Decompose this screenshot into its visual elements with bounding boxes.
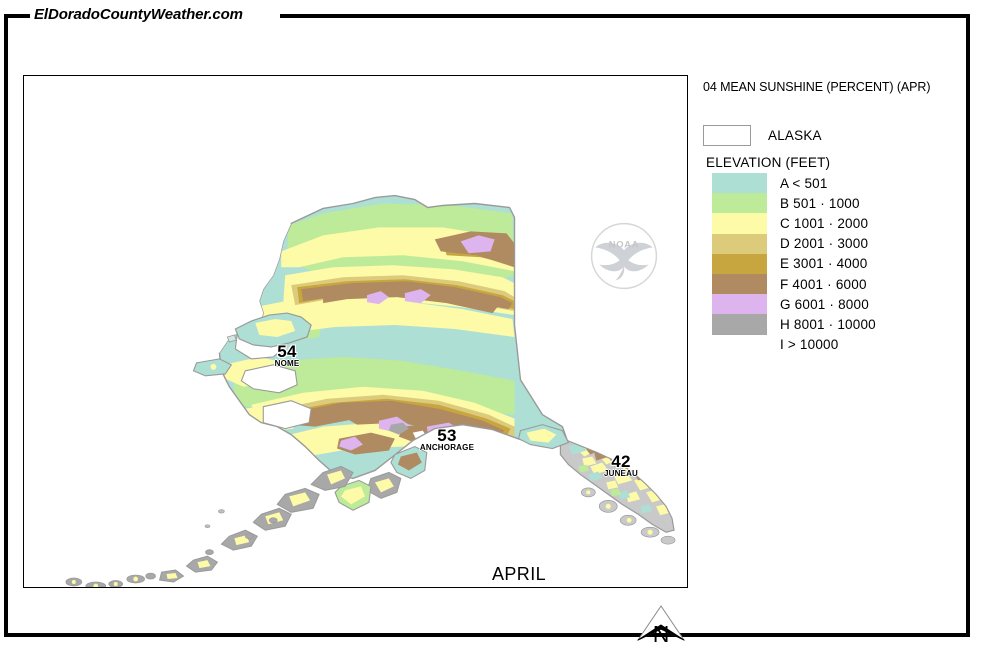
legend-swatch-g — [712, 294, 767, 314]
legend-elevation-header: ELEVATION (FEET) — [706, 155, 830, 170]
legend-swatch-h — [712, 314, 767, 334]
legend-elevation-list: A < 501 B 501 · 1000 C 1001 · 2000 D 200… — [712, 173, 876, 355]
legend-swatch-f — [712, 274, 767, 294]
legend-row-alaska: ALASKA — [703, 125, 822, 146]
legend-row-i: I > 10000 — [712, 335, 876, 355]
city-name-nome: NOME — [252, 359, 322, 368]
map-legend: 04 MEAN SUNSHINE (PERCENT) (APR) ALASKA … — [703, 80, 965, 94]
legend-label-f: F 4001 · 6000 — [780, 277, 867, 292]
city-value-nome: 54 — [252, 344, 322, 359]
legend-swatch-i — [712, 335, 767, 355]
legend-row-h: H 8001 · 10000 — [712, 314, 876, 334]
legend-label-i: I > 10000 — [780, 337, 838, 352]
noaa-seal-logo: NOAA — [588, 220, 660, 292]
legend-label-c: C 1001 · 2000 — [780, 216, 868, 231]
city-name-juneau: JUNEAU — [582, 469, 660, 478]
page-root: ElDoradoCountyWeather.com — [0, 0, 981, 660]
legend-swatch-e — [712, 254, 767, 274]
legend-label-e: E 3001 · 4000 — [780, 256, 867, 271]
legend-row-a: A < 501 — [712, 173, 876, 193]
legend-row-d: D 2001 · 3000 — [712, 234, 876, 254]
legend-swatch-b — [712, 193, 767, 213]
alaska-elevation-map — [24, 76, 687, 587]
legend-label-a: A < 501 — [780, 176, 828, 191]
legend-row-g: G 6001 · 8000 — [712, 294, 876, 314]
city-label-anchorage: 53 ANCHORAGE — [402, 428, 492, 452]
city-label-nome: 54 NOME — [252, 344, 322, 368]
legend-label-alaska: ALASKA — [768, 128, 822, 143]
city-name-anchorage: ANCHORAGE — [402, 443, 492, 452]
legend-row-b: B 501 · 1000 — [712, 193, 876, 213]
legend-row-c: C 1001 · 2000 — [712, 213, 876, 233]
legend-row-f: F 4001 · 6000 — [712, 274, 876, 294]
legend-swatch-alaska — [703, 125, 751, 146]
legend-swatch-a — [712, 173, 767, 193]
svg-text:NOAA: NOAA — [609, 239, 639, 249]
legend-label-h: H 8001 · 10000 — [780, 317, 876, 332]
map-caption-month: APRIL — [359, 564, 679, 585]
legend-label-b: B 501 · 1000 — [780, 196, 860, 211]
city-value-juneau: 42 — [582, 454, 660, 469]
map-panel[interactable]: NOAA APRIL MEAN SUNSHINE PERCENTAGE 54 N… — [23, 75, 688, 588]
legend-label-d: D 2001 · 3000 — [780, 236, 868, 251]
city-label-juneau: 42 JUNEAU — [582, 454, 660, 478]
north-label: N — [633, 623, 689, 646]
legend-title: 04 MEAN SUNSHINE (PERCENT) (APR) — [703, 80, 965, 94]
site-title: ElDoradoCountyWeather.com — [34, 6, 243, 23]
legend-swatch-c — [712, 213, 767, 233]
map-caption-subject: MEAN SUNSHINE PERCENTAGE — [329, 587, 688, 588]
legend-label-g: G 6001 · 8000 — [780, 297, 869, 312]
city-value-anchorage: 53 — [402, 428, 492, 443]
legend-row-e: E 3001 · 4000 — [712, 254, 876, 274]
legend-swatch-d — [712, 234, 767, 254]
